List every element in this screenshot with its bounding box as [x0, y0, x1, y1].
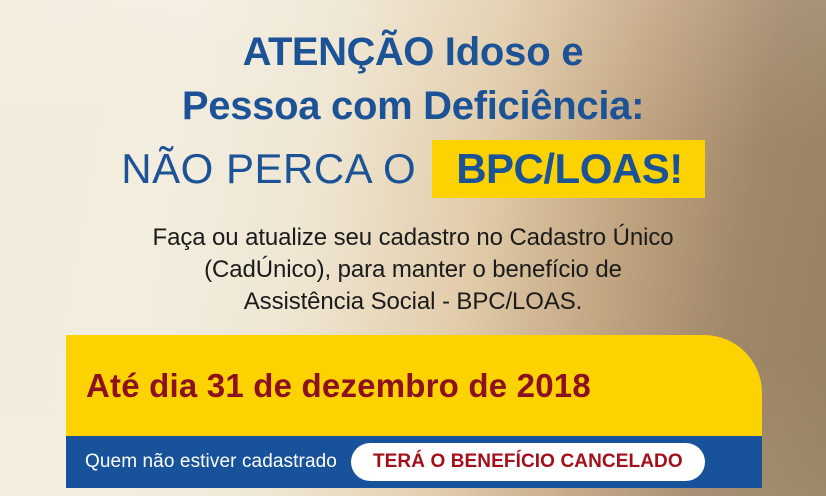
- headline-do-not-lose-text: NÃO PERCA O: [121, 139, 432, 199]
- bpc-loas-awareness-banner: ATENÇÃO Idoso e Pessoa com Deficiência: …: [0, 0, 826, 496]
- headline-attention-word: ATENÇÃO: [243, 30, 434, 74]
- deadline-text: Até dia 31 de dezembro de 2018: [66, 367, 591, 405]
- instruction-line-1: Faça ou atualize seu cadastro no Cadastr…: [0, 222, 826, 254]
- headline-line-3: NÃO PERCA OBPC/LOAS!: [0, 138, 826, 200]
- instruction-paragraph: Faça ou atualize seu cadastro no Cadastr…: [0, 222, 826, 318]
- headline-benefit-highlight: BPC/LOAS!: [432, 140, 705, 198]
- warning-note-text: Quem não estiver cadastrado: [66, 451, 337, 473]
- instruction-line-2: (CadÚnico), para manter o benefício de: [0, 254, 826, 286]
- deadline-panel: Até dia 31 de dezembro de 2018: [66, 335, 762, 436]
- warning-footer-band: Quem não estiver cadastrado TERÁ O BENEF…: [66, 436, 762, 488]
- cancellation-pill-label: TERÁ O BENEFÍCIO CANCELADO: [373, 452, 683, 472]
- cancellation-pill: TERÁ O BENEFÍCIO CANCELADO: [351, 443, 705, 481]
- instruction-line-3: Assistência Social - BPC/LOAS.: [0, 286, 826, 318]
- headline-line-1: ATENÇÃO Idoso e: [0, 28, 826, 76]
- headline-audience-word: Idoso e: [434, 30, 584, 74]
- headline-line-2: Pessoa com Deficiência:: [0, 82, 826, 130]
